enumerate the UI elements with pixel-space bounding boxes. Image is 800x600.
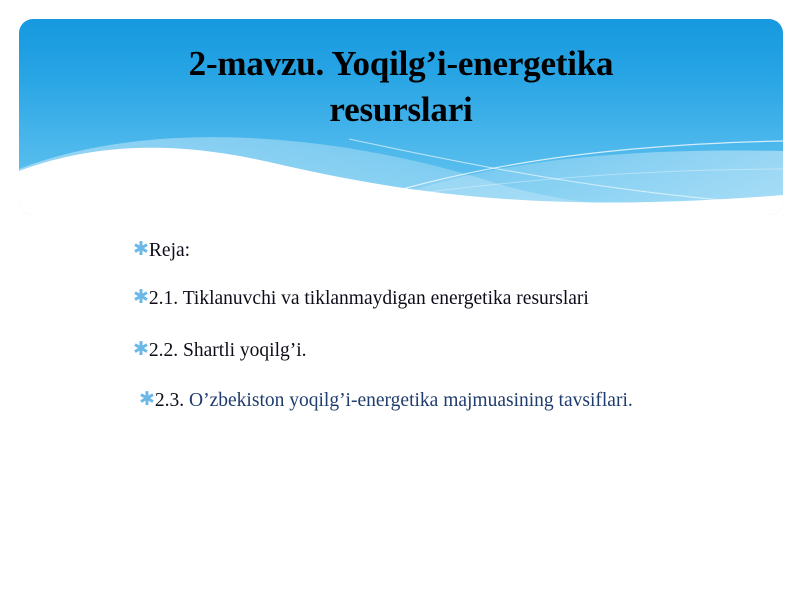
- body-content: ✱Reja: ✱2.1. Tiklanuvchi va tiklanmaydig…: [105, 238, 715, 414]
- bullet-item-2-2-label: 2.2. Shartli yoqilg’i.: [149, 340, 307, 361]
- asterisk-bullet-icon: ✱: [133, 286, 149, 308]
- bullet-item-2-3-label: O’zbekiston yoqilg’i-energetika majmuasi…: [189, 390, 633, 411]
- title-line-2: resurslari: [19, 87, 783, 133]
- asterisk-bullet-icon: ✱: [133, 238, 149, 260]
- bullet-item-2-2: ✱2.2. Shartli yoqilg’i.: [105, 338, 715, 364]
- page-title: 2-mavzu. Yoqilg’i-energetika resurslari: [19, 41, 783, 133]
- asterisk-bullet-icon: ✱: [133, 338, 149, 360]
- title-banner: 2-mavzu. Yoqilg’i-energetika resurslari: [19, 19, 783, 215]
- bullet-reja: ✱Reja:: [105, 238, 715, 264]
- title-line-1: 2-mavzu. Yoqilg’i-energetika: [19, 41, 783, 87]
- bullet-item-2-3-number: 2.3.: [155, 390, 189, 411]
- asterisk-bullet-icon: ✱: [139, 388, 155, 410]
- bullet-item-2-1: ✱2.1. Tiklanuvchi va tiklanmaydigan ener…: [105, 286, 715, 312]
- bullet-reja-label: Reja:: [149, 240, 190, 261]
- bullet-item-2-1-label: 2.1. Tiklanuvchi va tiklanmaydigan energ…: [149, 288, 589, 309]
- slide-canvas: 2-mavzu. Yoqilg’i-energetika resurslari …: [0, 0, 800, 600]
- bullet-item-2-3: ✱2.3. O’zbekiston yoqilg’i-energetika ma…: [105, 388, 715, 414]
